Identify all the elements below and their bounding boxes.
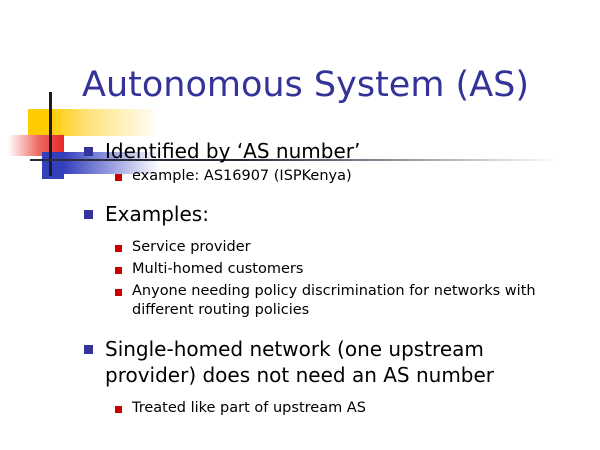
slide-body: Identified by ‘AS number’ example: AS169… — [0, 134, 600, 421]
bullet-item-level2: Anyone needing policy discrimination for… — [0, 282, 600, 320]
spacer — [0, 229, 600, 235]
bullet-square-icon — [84, 345, 93, 354]
bullet-item-level2: example: AS16907 (ISPKenya) — [0, 167, 600, 186]
bullet-item-level2: Service provider — [0, 238, 600, 257]
bullet-square-icon — [115, 289, 122, 296]
bullet-square-icon — [115, 245, 122, 252]
bullet-item-level1: Identified by ‘AS number’ — [0, 138, 600, 164]
bullet-text: Single-homed network (one upstream provi… — [105, 336, 525, 388]
bullet-item-level2: Treated like part of upstream AS — [0, 399, 600, 418]
bullet-text: Service provider — [132, 238, 251, 257]
bullet-text: example: AS16907 (ISPKenya) — [132, 167, 352, 186]
bullet-square-icon — [115, 174, 122, 181]
bullet-square-icon — [84, 147, 93, 156]
bullet-text: Anyone needing policy discrimination for… — [132, 282, 594, 320]
spacer — [0, 390, 600, 396]
bullet-item-level1: Single-homed network (one upstream provi… — [0, 336, 600, 388]
spacer — [0, 189, 600, 197]
spacer — [0, 323, 600, 332]
bullet-item-level1: Examples: — [0, 201, 600, 227]
bullet-square-icon — [84, 210, 93, 219]
bullet-text: Multi-homed customers — [132, 260, 303, 279]
bullet-text: Examples: — [105, 201, 209, 227]
logo-yellow-square — [28, 109, 50, 136]
bullet-square-icon — [115, 406, 122, 413]
bullet-square-icon — [115, 267, 122, 274]
slide: Autonomous System (AS) Identified by ‘AS… — [0, 0, 600, 450]
bullet-text: Treated like part of upstream AS — [132, 399, 366, 418]
slide-title: Autonomous System (AS) — [82, 64, 529, 106]
bullet-text: Identified by ‘AS number’ — [105, 138, 360, 164]
bullet-item-level2: Multi-homed customers — [0, 260, 600, 279]
logo-yellow-gradient-band — [28, 109, 160, 136]
